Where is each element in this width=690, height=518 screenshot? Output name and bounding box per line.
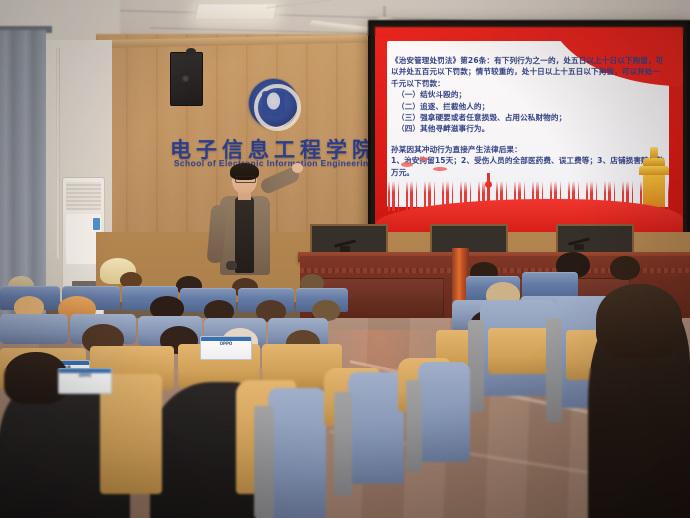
slide-list-item: （四）其他寻衅滋事行为。 [397,123,665,134]
slide-text-block: 《治安管理处罚法》第26条：有下列行为之一的，处五日以上十日以下拘留，可以并处五… [391,55,665,178]
ceiling-panel-light [194,3,278,20]
emblem-core [262,91,285,116]
slide-cloud [419,157,428,161]
presentation-slide: 《治安管理处罚法》第26条：有下列行为之一的，处五日以上十日以下拘留，可以并处五… [375,27,683,241]
ac-badge [93,218,100,230]
seat-side-panel [468,320,484,412]
lecture-hall-photo: 电子信息工程学院 School of Electronic Informatio… [0,0,690,518]
university-emblem [249,79,298,128]
gate-body [643,173,665,207]
slide-list-item: （二）追逐、拦截他人的； [397,101,665,112]
presenter-hand [292,163,303,173]
presenter-speaker [196,165,300,275]
wall-pipe [56,48,60,258]
seat-number-plaque: OPPO [58,368,112,394]
auditorium-seat-back[interactable] [488,328,550,374]
auditorium-seat[interactable] [348,372,404,484]
seat-side-panel [406,380,422,472]
seat-side-panel [546,318,562,422]
microphone-base [574,244,584,250]
ac-grille [66,182,101,210]
presenter-left-hand [226,261,237,270]
gate-finial [650,147,658,158]
slide-list-item: （一）结伙斗殴的； [397,89,665,100]
podium-back-panel [556,224,634,254]
plaque-text: OPPO [203,341,249,359]
slide-paragraph-2-title: 孙某因其冲动行为直接产生法律后果： [391,144,665,155]
seat-number-plaque: OPPO [200,336,252,360]
audience-head [596,284,682,358]
slide-paragraph-2-body: 1、治安拘留15天；2、受伤人员的全部医药费、误工费等；3、店铺损害赔偿数万元。 [391,155,665,178]
slide-list: （一）结伙斗殴的； （二）追逐、拦截他人的； （三）强拿硬要或者任意损毁、占用公… [391,89,665,135]
seat-side-panel [334,392,352,496]
podium-back-panel [430,224,508,254]
gate-roof [639,166,669,175]
slide-paragraph-1: 《治安管理处罚法》第26条：有下列行为之一的，处五日以上十日以下拘留，可以并处五… [391,55,665,89]
presenter-shirt [235,197,254,273]
presenter-glasses [235,176,256,183]
speaker-mount [186,48,196,55]
gate-roof-upper [643,158,665,166]
auditorium-seat[interactable] [418,362,470,462]
seat-side-panel [254,406,274,518]
auditorium-seat[interactable] [268,388,326,518]
slide-cloud [401,162,413,167]
audience-head [610,256,640,280]
tiananmen-gate-ornament [639,145,669,207]
slide-list-item: （三）强拿硬要或者任意损毁、占用公私财物的； [397,112,665,123]
auditorium-seat[interactable] [0,314,68,344]
wall-mounted-speaker [170,52,203,106]
slide-cloud [433,167,447,171]
plaque-text: OPPO [61,373,109,393]
speaker-cone-icon [182,75,189,82]
projection-screen: 《治安管理处罚法》第26条：有下列行为之一的，处五日以上十日以下拘留，可以并处五… [368,20,690,248]
